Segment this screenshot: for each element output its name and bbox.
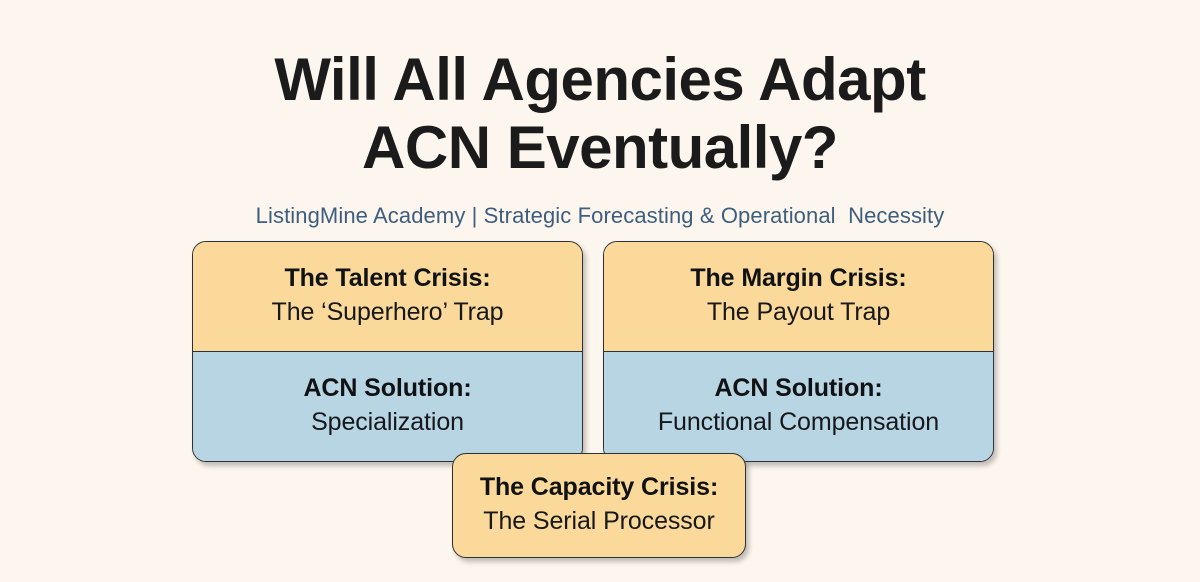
crisis-detail: The Payout Trap (618, 295, 979, 329)
crisis-card-capacity-wrap: The Capacity Crisis: The Serial Processo… (452, 453, 746, 558)
solution-detail: Specialization (207, 405, 568, 439)
crisis-heading: The Capacity Crisis: (465, 471, 733, 504)
crisis-heading: The Margin Crisis: (618, 262, 979, 295)
slide-header: Will All Agencies Adapt ACN Eventually? … (0, 46, 1200, 230)
solution-heading: ACN Solution: (207, 372, 568, 405)
crisis-card-capacity[interactable]: The Capacity Crisis: The Serial Processo… (452, 453, 746, 558)
crisis-heading: The Talent Crisis: (207, 262, 568, 295)
crisis-card-talent[interactable]: The Talent Crisis: The ‘Superhero’ Trap … (192, 241, 583, 462)
crisis-detail: The ‘Superhero’ Trap (207, 295, 568, 329)
crisis-cards-row: The Talent Crisis: The ‘Superhero’ Trap … (192, 241, 994, 462)
page-subtitle: ListingMine Academy | Strategic Forecast… (0, 182, 1200, 230)
solution-heading: ACN Solution: (618, 372, 979, 405)
solution-detail: Functional Compensation (618, 405, 979, 439)
crisis-card-margin[interactable]: The Margin Crisis: The Payout Trap ACN S… (603, 241, 994, 462)
card-problem-section: The Margin Crisis: The Payout Trap (604, 242, 993, 352)
card-problem-section: The Talent Crisis: The ‘Superhero’ Trap (193, 242, 582, 352)
card-solution-section: ACN Solution: Functional Compensation (604, 352, 993, 461)
crisis-detail: The Serial Processor (465, 504, 733, 538)
card-solution-section: ACN Solution: Specialization (193, 352, 582, 461)
page-title: Will All Agencies Adapt ACN Eventually? (0, 46, 1200, 182)
slide-canvas: Will All Agencies Adapt ACN Eventually? … (0, 0, 1200, 582)
